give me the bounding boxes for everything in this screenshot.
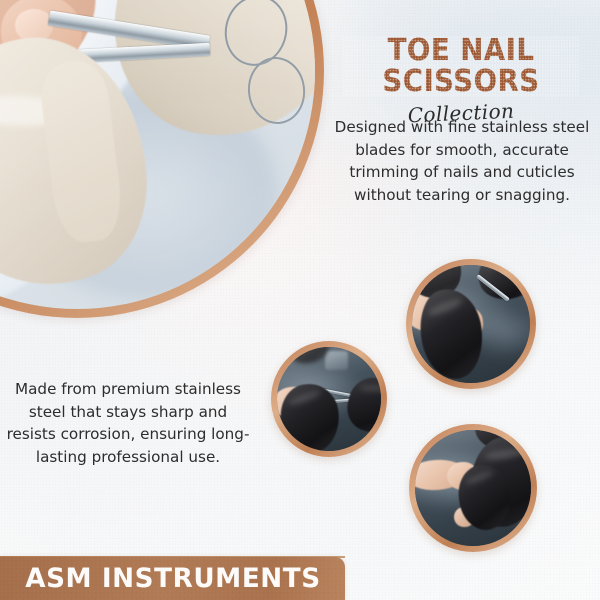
- hero-pedicure-scissors-photo: [0, 0, 315, 309]
- product-poster: TOE NAIL SCISSORS Collection Designed wi…: [0, 0, 600, 600]
- page-title: TOE NAIL SCISSORS: [342, 36, 579, 97]
- brand-name: ASM INSTRUMENTS: [0, 563, 321, 594]
- photo-sheen: [412, 265, 530, 383]
- nail-tool-closeup-photo: [412, 265, 530, 383]
- brand-banner: ASM INSTRUMENTS: [0, 557, 345, 600]
- hero-photo-frame: [0, 0, 324, 318]
- hero-photo-sheen: [0, 0, 315, 309]
- nail-tool-closeup-photo-frame: [406, 259, 536, 389]
- photo-sheen: [415, 430, 531, 546]
- description-right: Designed with fine stainless steel blade…: [334, 116, 590, 206]
- scissors-trimming-photo: [277, 347, 381, 451]
- photo-sheen: [277, 347, 381, 451]
- nail-filing-photo-frame: [409, 424, 537, 552]
- description-left: Made from premium stainless steel that s…: [6, 378, 250, 468]
- scissors-trimming-photo-frame: [271, 341, 387, 457]
- headline-block: TOE NAIL SCISSORS Collection: [332, 36, 590, 125]
- nail-filing-photo: [415, 430, 531, 546]
